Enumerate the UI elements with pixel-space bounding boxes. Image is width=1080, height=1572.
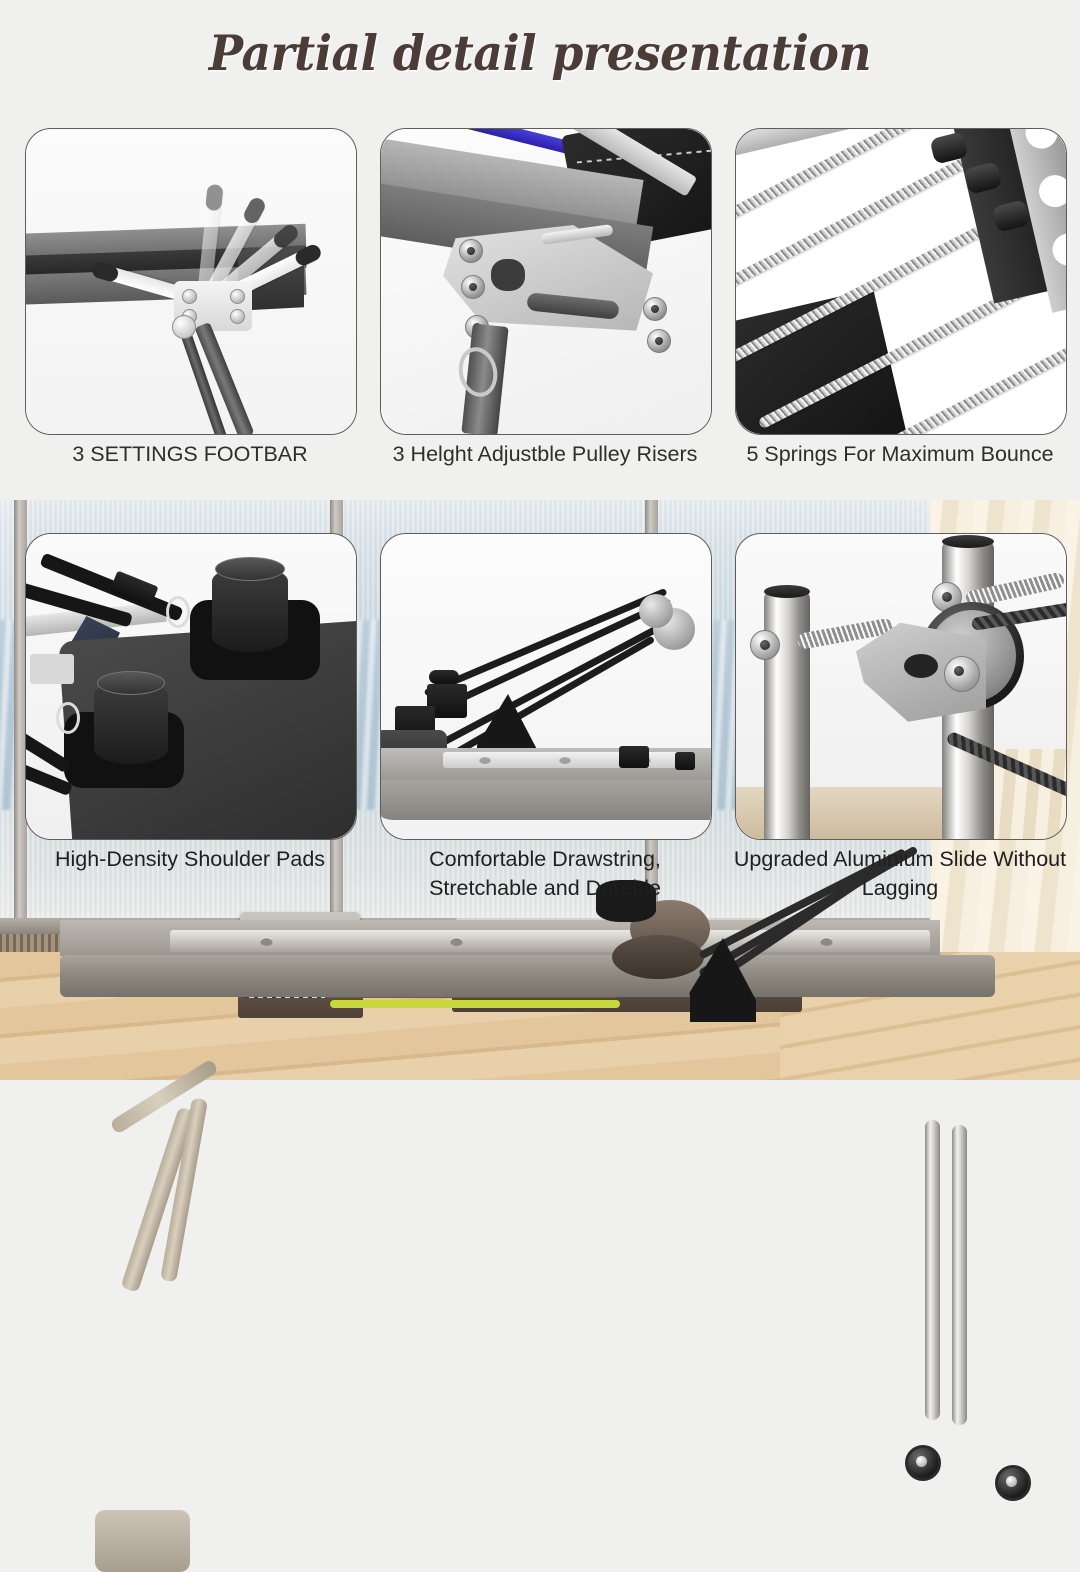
feature-image-pulley-risers bbox=[381, 129, 711, 434]
feature-grid: 3 SETTINGS FOOTBAR bbox=[0, 0, 1080, 1080]
feature-card[interactable] bbox=[25, 533, 357, 840]
feature-card[interactable] bbox=[25, 128, 357, 435]
feature-cell-shoulder-pads[interactable]: High-Density Shoulder Pads bbox=[25, 533, 355, 840]
shoulder-pad bbox=[212, 566, 288, 652]
riser-pole bbox=[764, 590, 810, 839]
feature-image-shoulder-pads bbox=[26, 534, 356, 839]
aluminium-slide-track bbox=[443, 752, 693, 768]
feature-image-springs bbox=[736, 129, 1066, 434]
feature-image-drawstring bbox=[381, 534, 711, 839]
feature-caption: Comfortable Drawstring, Stretchable and … bbox=[374, 845, 716, 903]
feature-image-aluminium-slide bbox=[736, 534, 1066, 839]
pulley-slot bbox=[904, 654, 938, 678]
adjust-knob bbox=[172, 315, 196, 339]
feature-card[interactable] bbox=[380, 533, 712, 840]
feature-caption: 3 SETTINGS FOOTBAR bbox=[19, 440, 361, 469]
feature-card[interactable] bbox=[380, 128, 712, 435]
feature-cell-drawstring[interactable]: Comfortable Drawstring, Stretchable and … bbox=[380, 533, 710, 840]
shoulder-pad bbox=[94, 680, 168, 764]
feature-card[interactable] bbox=[735, 533, 1067, 840]
feature-card[interactable] bbox=[735, 128, 1067, 435]
product-detail-page: Partial detail presentation bbox=[0, 0, 1080, 1080]
feature-caption: 3 Helght Adjustble Pulley Risers bbox=[374, 440, 716, 469]
feature-image-footbar bbox=[26, 129, 356, 434]
feature-caption: 5 Springs For Maximum Bounce bbox=[729, 440, 1071, 469]
feature-cell-aluminium-slide[interactable]: Upgraded Aluminium Slide Without Lagging bbox=[735, 533, 1065, 840]
pulley-wheel bbox=[639, 594, 673, 628]
riser-pole bbox=[952, 1125, 967, 1425]
feature-cell-springs[interactable]: 5 Springs For Maximum Bounce bbox=[735, 128, 1065, 435]
feature-cell-pulley-risers[interactable]: 3 Helght Adjustble Pulley Risers bbox=[380, 128, 710, 435]
feature-cell-footbar[interactable]: 3 SETTINGS FOOTBAR bbox=[25, 128, 355, 435]
feature-caption: Upgraded Aluminium Slide Without Lagging bbox=[729, 845, 1071, 903]
riser-pole bbox=[925, 1120, 940, 1420]
feature-caption: High-Density Shoulder Pads bbox=[19, 845, 361, 874]
footbar-hinge bbox=[95, 1510, 190, 1572]
